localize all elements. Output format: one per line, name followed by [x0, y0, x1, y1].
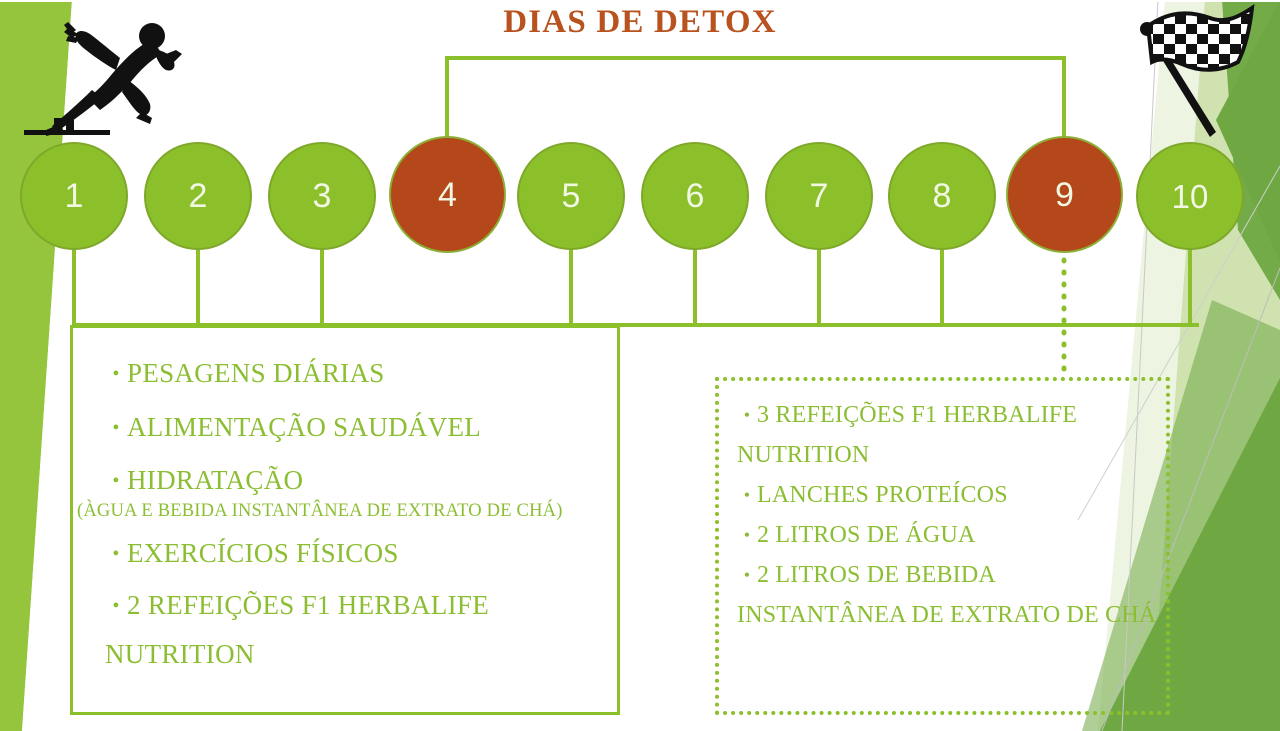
day-circle-4[interactable]: 4	[389, 136, 506, 253]
bullet-icon: •	[737, 406, 757, 424]
day-circle-6[interactable]: 6	[641, 142, 749, 250]
day-number-1: 1	[65, 179, 84, 213]
list-item-label: 3 REFEIÇÕES F1 HERBALIFE NUTRITION	[737, 402, 1077, 468]
list-item-label: LANCHES PROTEÍCOS	[757, 482, 1008, 508]
bullet-icon: •	[105, 471, 127, 491]
list-item: •EXERCÍCIOS FÍSICOS	[105, 526, 617, 580]
day-number-5: 5	[562, 179, 581, 213]
day-circle-5[interactable]: 5	[517, 142, 625, 250]
bullet-icon: •	[737, 486, 757, 504]
list-item: •2 LITROS DE ÁGUA	[737, 515, 1166, 555]
list-item: •2 LITROS DE BEBIDA INSTANTÂNEA DE EXTRA…	[737, 555, 1166, 635]
day-number-6: 6	[686, 179, 705, 213]
list-item-label: ALIMENTAÇÃO SAUDÁVEL	[127, 412, 481, 442]
day-number-4: 4	[438, 178, 457, 212]
day-number-2: 2	[189, 179, 208, 213]
list-item: •3 REFEIÇÕES F1 HERBALIFE NUTRITION	[737, 395, 1166, 475]
day-circle-10[interactable]: 10	[1136, 142, 1244, 250]
daily-routine-list-continued: •EXERCÍCIOS FÍSICOS •2 REFEIÇÕES F1 HERB…	[73, 524, 617, 679]
day-number-8: 8	[933, 179, 952, 213]
bullet-icon: •	[105, 544, 127, 564]
day-circle-9[interactable]: 9	[1006, 136, 1123, 253]
infographic-canvas: DIAS DE DETOX	[0, 0, 1280, 731]
list-item: •HIDRATAÇÃO	[105, 453, 617, 507]
list-item-label: HIDRATAÇÃO	[127, 465, 303, 495]
list-item-label: PESAGENS DIÁRIAS	[127, 358, 385, 388]
list-item: •ALIMENTAÇÃO SAUDÁVEL	[105, 400, 617, 454]
list-item: •2 REFEIÇÕES F1 HERBALIFE NUTRITION	[105, 580, 617, 679]
day-number-9: 9	[1055, 178, 1074, 212]
list-item: •PESAGENS DIÁRIAS	[105, 346, 617, 400]
day-number-10: 10	[1172, 180, 1209, 213]
day-circle-8[interactable]: 8	[888, 142, 996, 250]
day-circle-1[interactable]: 1	[20, 142, 128, 250]
day-circle-3[interactable]: 3	[268, 142, 376, 250]
bullet-icon: •	[105, 596, 127, 616]
detox-day-list: •3 REFEIÇÕES F1 HERBALIFE NUTRITION •LAN…	[719, 381, 1166, 635]
list-item: •LANCHES PROTEÍCOS	[737, 475, 1166, 515]
day-number-3: 3	[313, 179, 332, 213]
list-item-label: 2 REFEIÇÕES F1 HERBALIFE NUTRITION	[105, 590, 489, 669]
list-item-label: 2 LITROS DE ÁGUA	[757, 522, 976, 548]
day-circle-7[interactable]: 7	[765, 142, 873, 250]
daily-routine-list: •PESAGENS DIÁRIAS •ALIMENTAÇÃO SAUDÁVEL …	[73, 328, 617, 507]
detox-day-panel: •3 REFEIÇÕES F1 HERBALIFE NUTRITION •LAN…	[715, 377, 1170, 715]
bullet-icon: •	[737, 566, 757, 584]
daily-routine-panel: •PESAGENS DIÁRIAS •ALIMENTAÇÃO SAUDÁVEL …	[70, 325, 620, 715]
bullet-icon: •	[105, 364, 127, 384]
day-circle-2[interactable]: 2	[144, 142, 252, 250]
list-item-label: EXERCÍCIOS FÍSICOS	[127, 538, 399, 568]
day-number-7: 7	[810, 179, 829, 213]
list-item-label: 2 LITROS DE BEBIDA INSTANTÂNEA DE EXTRAT…	[737, 562, 1156, 628]
bullet-icon: •	[737, 526, 757, 544]
bullet-icon: •	[105, 418, 127, 438]
